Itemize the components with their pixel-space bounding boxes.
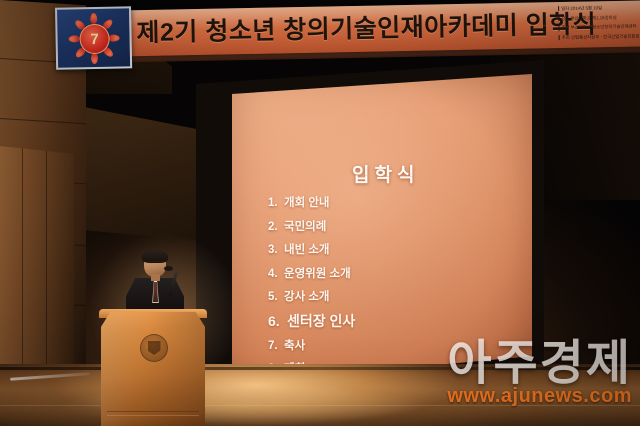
list-item-number: 5. — [268, 290, 284, 304]
academy-logo-plaque: 7 — [55, 6, 132, 69]
crest-shield-icon — [148, 341, 161, 355]
list-item-number: 4. — [268, 267, 284, 281]
university-crest-icon — [140, 334, 168, 362]
event-banner: 제2기 청소년 창의기술인재아카데미 입학식 일자 2014년 5월 10일 장… — [42, 0, 640, 70]
list-item-number: 1. — [268, 196, 284, 210]
list-item-number: 7. — [268, 339, 284, 353]
list-item-label: 축사 — [284, 339, 305, 353]
speaker-neck — [151, 274, 160, 281]
banner-info-line: 주관 부산대학교 청소년창의기술인재센터 — [561, 24, 636, 30]
list-item-number: 2. — [268, 220, 284, 234]
list-item: 3. 내빈 소개 — [268, 243, 518, 257]
slide-agenda-list: 1. 개회 안내 2. 국민의례 3. 내빈 소개 4. 운영위원 소개 5. … — [268, 196, 518, 386]
banner-info-line: 일자 2014년 5월 10일 — [561, 5, 602, 11]
speaker-glasses — [146, 261, 164, 266]
podium — [101, 312, 205, 426]
slide-title: 입학식 — [352, 160, 419, 187]
list-item: 2. 국민의례 — [268, 220, 518, 234]
list-item: 4. 운영위원 소개 — [268, 267, 518, 281]
list-item-label: 내빈 소개 — [284, 243, 330, 257]
list-item: 1. 개회 안내 — [268, 196, 518, 210]
list-item-number: 6. — [268, 314, 287, 328]
podium-seam-highlight — [107, 415, 199, 416]
list-item-label: 국민의례 — [284, 220, 326, 234]
banner-info-line: 주최 산업통상자원부 · 한국산업기술진흥원 — [562, 33, 640, 39]
banner-bar: 제2기 청소년 창의기술인재아카데미 입학식 일자 2014년 5월 10일 장… — [122, 0, 640, 56]
list-item-label: 센터장 인사 — [287, 314, 355, 328]
list-item-label: 강사 소개 — [284, 290, 330, 304]
projection-screen: 입학식 1. 개회 안내 2. 국민의례 3. 내빈 소개 4. 운영위원 소개… — [232, 74, 532, 384]
list-item-number: 3. — [268, 243, 284, 257]
list-item: 6. 센터장 인사 — [268, 314, 518, 328]
list-item: 5. 강사 소개 — [268, 290, 518, 304]
microphone-head-icon — [164, 266, 173, 271]
banner-info-panel: 일자 2014년 5월 10일 장소 부산대학교 제1,16강의실 주관 부산대… — [558, 2, 640, 43]
podium-seam — [107, 411, 199, 412]
logo-number: 7 — [90, 31, 99, 46]
list-item-label: 운영위원 소개 — [284, 267, 351, 281]
list-item: 7. 축사 — [268, 339, 518, 353]
podium-shading — [101, 312, 205, 426]
banner-info-line: 장소 부산대학교 제1,16강의실 — [561, 15, 617, 21]
list-item-label: 개회 안내 — [284, 196, 330, 210]
photo-scene: 입학식 1. 개회 안내 2. 국민의례 3. 내빈 소개 4. 운영위원 소개… — [0, 0, 640, 426]
